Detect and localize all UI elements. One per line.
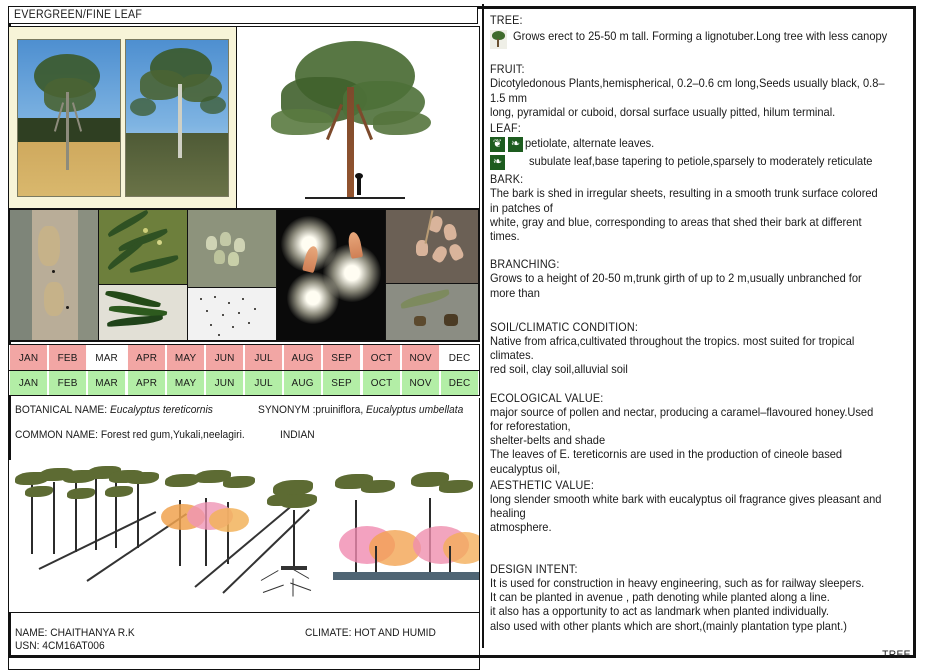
- dried-specimen-photo: [386, 284, 478, 340]
- design-sketch-band: [8, 460, 480, 612]
- synonym-value: Eucalyptus umbellata: [366, 404, 463, 416]
- fruit-section: FRUIT: Dicotyledonous Plants,hemispheric…: [490, 63, 908, 120]
- tree-icon: [490, 30, 507, 49]
- month-cell: SEP: [323, 371, 360, 395]
- botanical-name-row: BOTANICAL NAME: Eucalyptus tereticornis …: [15, 404, 479, 416]
- bud-cluster-photo: [188, 210, 276, 287]
- right-column: TREE: Grows erect to 25-50 m tall. Formi…: [490, 14, 908, 650]
- aesthetic-section-title: AESTHETIC VALUE:: [490, 479, 879, 493]
- left-column: JAN FEB MAR APR MAY JUN JUL AUG SEP OCT …: [8, 26, 480, 646]
- month-cell: NOV: [402, 371, 439, 395]
- climate-label: CLIMATE: HOT AND HUMID: [305, 627, 436, 639]
- bark-line-2: white, gray and blue, corresponding to a…: [490, 216, 889, 244]
- category-header: EVERGREEN/FINE LEAF: [8, 6, 478, 24]
- botanical-name-value: Eucalyptus tereticornis: [110, 404, 213, 416]
- branching-section-title: BRANCHING:: [490, 258, 879, 272]
- photo-band: [8, 26, 480, 209]
- author-usn: USN: 4CM16AT006: [15, 640, 447, 653]
- leaf-section: LEAF: ❦ ❧ petiolate, alternate leaves. ❧…: [490, 122, 908, 170]
- month-cell: OCT: [363, 345, 400, 370]
- seed-photo: [188, 288, 276, 340]
- habit-photo-pair: [9, 27, 237, 208]
- seasonality-calendar: JAN FEB MAR APR MAY JUN JUL AUG SEP OCT …: [8, 344, 480, 396]
- ecological-line-2: shelter-belts and shade: [490, 434, 889, 448]
- month-cell: APR: [127, 345, 164, 370]
- design-intent-title: DESIGN INTENT:: [490, 563, 879, 577]
- leaf-icon-c: ❧: [490, 155, 505, 170]
- botanical-name: BOTANICAL NAME: Eucalyptus tereticornis: [15, 404, 241, 416]
- nomenclature-block: BOTANICAL NAME: Eucalyptus tereticornis …: [8, 398, 480, 460]
- tree-section-text: Grows erect to 25-50 m tall. Forming a l…: [513, 30, 887, 44]
- foliage-month-row: JAN FEB MAR APR MAY JUN JUL AUG SEP OCT …: [8, 370, 480, 396]
- tree-habit-photo-1: [17, 39, 121, 197]
- branching-section: BRANCHING: Grows to a height of 20-50 m,…: [490, 258, 908, 301]
- month-cell: JAN: [10, 345, 47, 370]
- month-cell: SEP: [323, 345, 360, 370]
- bark-section: BARK: The bark is shed in irregular shee…: [490, 173, 908, 244]
- common-name-label: COMMON NAME:: [15, 429, 98, 441]
- synonym-label: SYNONYM :pruiniflora,: [258, 404, 363, 416]
- ecological-section-title: ECOLOGICAL VALUE:: [490, 392, 879, 406]
- tree-habit-photo-2: [125, 39, 229, 197]
- common-name: COMMON NAME: Forest red gum,Yukali,neela…: [15, 429, 261, 441]
- origin-label: INDIAN: [280, 429, 315, 441]
- month-cell: JUL: [245, 345, 282, 370]
- bark-line-1: The bark is shed in irregular sheets, re…: [490, 187, 889, 215]
- bark-section-title: BARK:: [490, 173, 879, 187]
- pod-dry-column: [386, 210, 478, 340]
- month-cell: MAY: [167, 345, 204, 370]
- fruit-section-title: FRUIT:: [490, 63, 879, 77]
- month-cell: DEC: [441, 345, 478, 370]
- sheet-type-tag: TREE: [882, 649, 911, 661]
- flowering-month-row: JAN FEB MAR APR MAY JUN JUL AUG SEP OCT …: [8, 344, 480, 370]
- soil-line-1: Native from africa,cultivated throughout…: [490, 335, 889, 363]
- fruit-line-2: long, pyramidal or cuboid, dorsal surfac…: [490, 106, 889, 120]
- tree-section: TREE: Grows erect to 25-50 m tall. Formi…: [490, 14, 908, 49]
- sheet-footer: NAME: CHAITHANYA R.K USN: 4CM16AT006 CLI…: [8, 612, 480, 670]
- leaf-specimen-photo: [99, 285, 187, 340]
- flower-closeup-photo: [277, 210, 385, 340]
- month-cell: AUG: [284, 371, 321, 395]
- month-cell: JUL: [245, 371, 282, 395]
- month-cell: MAR: [88, 345, 125, 370]
- design-line-2: It can be planted in avenue , path denot…: [490, 591, 889, 605]
- design-line-1: It is used for construction in heavy eng…: [490, 577, 889, 591]
- design-line-3: it also has a opportunity to act as land…: [490, 605, 889, 619]
- leaf-icon-b: ❧: [508, 137, 523, 152]
- common-name-row: COMMON NAME: Forest red gum,Yukali,neela…: [15, 429, 479, 441]
- branching-line-1: Grows to a height of 20-50 m,trunk girth…: [490, 272, 889, 300]
- leaf-icon-a: ❦: [490, 137, 505, 152]
- leaf-detail-column: [99, 210, 187, 340]
- botanical-name-label: BOTANICAL NAME:: [15, 404, 107, 416]
- ecological-section: ECOLOGICAL VALUE: major source of pollen…: [490, 392, 908, 477]
- month-cell: JUN: [206, 371, 243, 395]
- aesthetic-section: AESTHETIC VALUE: long slender smooth whi…: [490, 479, 908, 536]
- design-intent-section: DESIGN INTENT: It is used for constructi…: [490, 563, 908, 634]
- flowering-foliage-photo: [99, 210, 187, 284]
- month-cell: OCT: [363, 371, 400, 395]
- fruit-line-1: Dicotyledonous Plants,hemispherical, 0.2…: [490, 77, 889, 105]
- month-cell: JAN: [10, 371, 47, 395]
- month-cell: NOV: [402, 345, 439, 370]
- category-header-label: EVERGREEN/FINE LEAF: [14, 9, 142, 21]
- leaf-line-2: subulate leaf,base tapering to petiole,s…: [529, 155, 872, 169]
- ecological-line-1: major source of pollen and nectar, produ…: [490, 406, 889, 434]
- soil-section: SOIL/CLIMATIC CONDITION: Native from afr…: [490, 321, 908, 378]
- bark-detail-photo: [10, 210, 98, 340]
- month-cell: MAR: [88, 371, 125, 395]
- month-cell: FEB: [49, 345, 86, 370]
- tree-elevation-render: [237, 27, 479, 208]
- aesthetic-line-1: long slender smooth white bark with euca…: [490, 493, 889, 521]
- month-cell: FEB: [49, 371, 86, 395]
- aesthetic-line-2: atmosphere.: [490, 521, 889, 535]
- flower-bud-photo: [386, 210, 478, 283]
- month-cell: DEC: [441, 371, 478, 395]
- month-cell: JUN: [206, 345, 243, 370]
- leaf-line-1: petiolate, alternate leaves.: [525, 137, 654, 151]
- month-cell: AUG: [284, 345, 321, 370]
- month-cell: MAY: [167, 371, 204, 395]
- tree-section-title: TREE:: [490, 14, 879, 28]
- leaf-section-title: LEAF:: [490, 122, 879, 136]
- ecological-line-3: The leaves of E. tereticornis are used i…: [490, 448, 889, 476]
- soil-line-2: red soil, clay soil,alluvial soil: [490, 363, 889, 377]
- detail-photo-strip: [8, 209, 480, 342]
- soil-section-title: SOIL/CLIMATIC CONDITION:: [490, 321, 879, 335]
- synonym: SYNONYM :pruiniflora, Eucalyptus umbella…: [258, 404, 463, 416]
- common-name-value: Forest red gum,Yukali,neelagiri.: [101, 429, 245, 441]
- column-divider: [482, 4, 484, 648]
- bud-seed-column: [188, 210, 276, 340]
- design-line-4: also used with other plants which are sh…: [490, 620, 889, 634]
- month-cell: APR: [127, 371, 164, 395]
